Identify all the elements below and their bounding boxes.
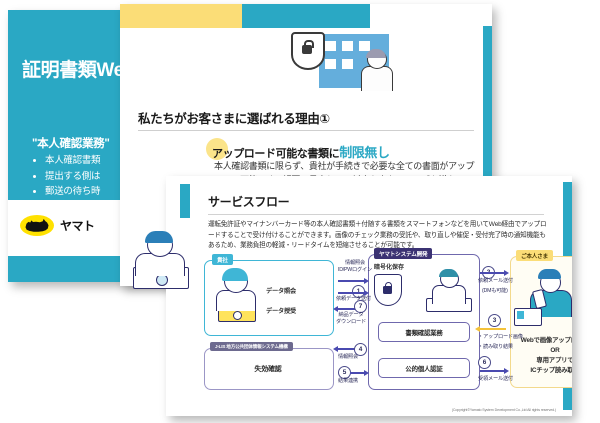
honnin-line-3: 専用アプリで [510, 356, 572, 366]
service-flow-diagram: 貴社 データ照会 データ授受 J-LIS 地方公共団体情報システム機構 失効確認… [192, 252, 560, 398]
kisha-item-2: データ授受 [266, 306, 296, 315]
kisha-item-1: データ照会 [266, 286, 296, 295]
flow-lane-jlis-label: J-LIS 地方公共団体情報システム機構 [210, 342, 293, 351]
slide-card-3[interactable]: サービスフロー 運転免許証やマイナンバーカード等の本人確認書類＋付随する書類をス… [166, 176, 572, 416]
copyright-notice: (Copyright©Yamato System Development Co.… [452, 408, 556, 412]
ysd-operator-illustration [424, 270, 474, 314]
laptop-person-illustration [131, 233, 193, 293]
flow-lane-ysd-label: ヤマトシステム開発 [374, 248, 432, 259]
jlis-item: 失効確認 [204, 364, 332, 374]
step-6-label: 受領メール送付 [478, 376, 513, 383]
step-4-label: 情報照会 [338, 354, 358, 361]
step-5-label: 結果連携 [338, 378, 358, 385]
slide2-heading: アップロード可能な書類に制限無し [212, 142, 390, 161]
id-cards-icon [514, 308, 542, 326]
step-3-sublabel: ・読み取り結果 [478, 344, 513, 351]
flow-lane-honnin-label: ご本人さま [516, 250, 553, 261]
slide3-left-accent-bar [180, 184, 190, 218]
encryption-shield-icon [374, 274, 402, 306]
ysd-box-public-auth: 公的個人認証 [378, 358, 470, 378]
step-6-number: 6 [478, 356, 491, 369]
lock-shield-icon [291, 32, 325, 70]
slide1-logo: ヤマト [20, 215, 95, 236]
honnin-line-2: OR [510, 346, 572, 356]
flow-lane-kisha-label: 貴社 [212, 254, 233, 265]
slide1-logo-label: ヤマト [60, 217, 95, 234]
slide2-divider [138, 130, 474, 131]
step-3-label: ・アップロード画像 [478, 334, 523, 341]
operator-avatar [359, 50, 393, 90]
slide2-heading-emphasis: 制限無し [339, 145, 389, 160]
secure-building-icon [285, 28, 395, 90]
step-1-label: 情報照会ID/PWログイン [338, 260, 372, 274]
ysd-caption: 暗号化保存 [374, 262, 404, 271]
slide3-title: サービスフロー [208, 193, 289, 210]
slide2-heading-plain: アップロード可能な書類に [212, 148, 339, 160]
step-3-number: 3 [488, 314, 501, 327]
step-2-sublabel: (DMも可能) [482, 288, 508, 295]
honnin-line-4: ICチップ読み取り [510, 366, 572, 376]
step-7-label: 納品データダウンロード [336, 312, 366, 326]
ysd-box-document-check: 書類確認業務 [378, 322, 470, 342]
slide2-teal-strip [242, 4, 370, 28]
slide2-title: 私たちがお客さまに選ばれる理由① [138, 108, 330, 127]
step-2-label: 依頼メール送付 [478, 278, 513, 285]
kisha-person-illustration [212, 268, 260, 324]
slide2-yellow-strip [120, 4, 242, 28]
slide-deck-stage: 証明書類Web取得サービス "本人確認業務" 本人確認書類 提出する側は 郵送の… [0, 0, 600, 423]
yamato-cat-icon [20, 215, 54, 236]
slide3-divider [208, 214, 544, 215]
